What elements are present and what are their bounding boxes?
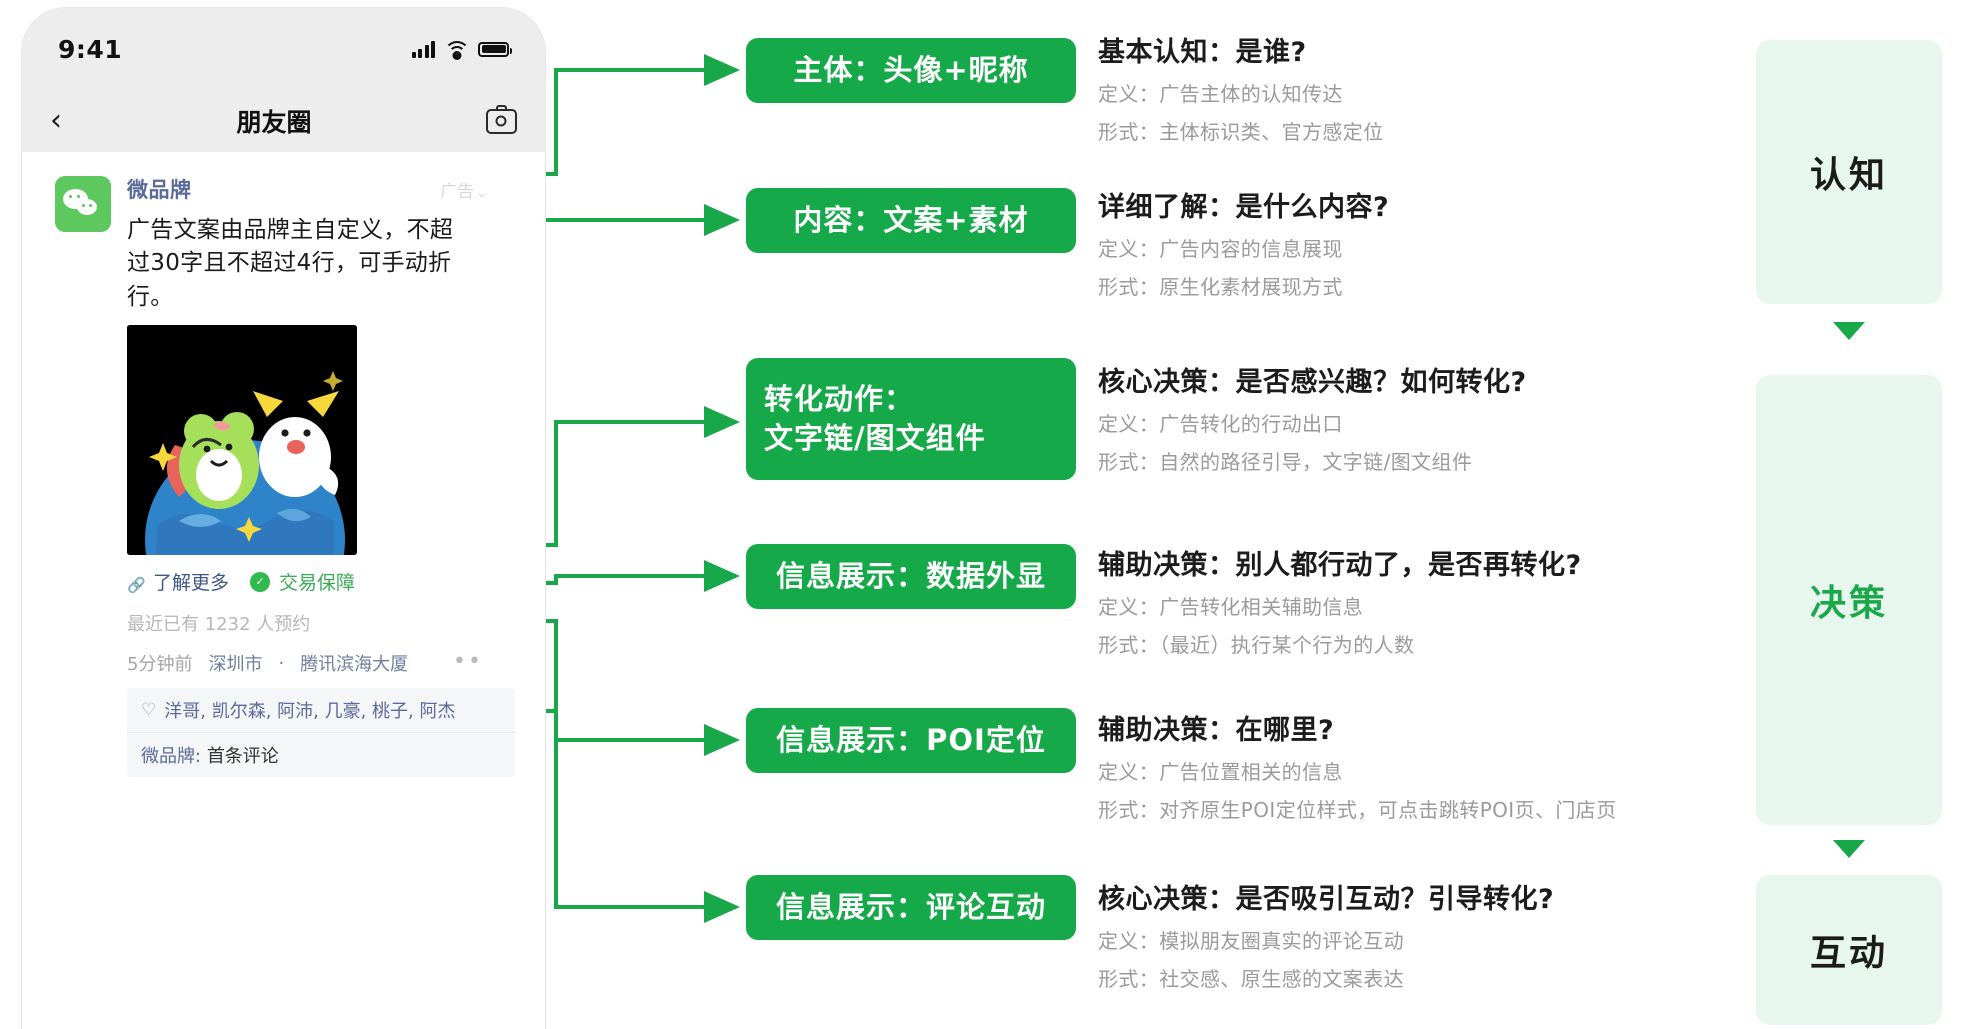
- phase-arrow-2-icon: [1833, 840, 1865, 858]
- detail-interaction-title: 核心决策：是否吸引互动？引导转化?: [1098, 877, 1554, 916]
- status-icons: [412, 41, 510, 58]
- comment-row[interactable]: 微品牌: 首条评论: [127, 733, 515, 777]
- ad-tag-label: 广告: [440, 182, 474, 202]
- node-data-display-label: 信息展示：数据外显: [776, 557, 1046, 596]
- node-content[interactable]: 内容：文案+素材: [746, 188, 1076, 253]
- detail-poi: 辅助决策：在哪里? 定义：广告位置相关的信息 形式：对齐原生POI定位样式，可点…: [1098, 708, 1617, 823]
- phone-mockup: 9:41 ‹ 朋友圈 微品牌 广告⌄: [22, 8, 545, 1029]
- comment-author: 微品牌:: [141, 746, 201, 767]
- poi-city[interactable]: 深圳市: [208, 650, 262, 676]
- page-title: 朋友圈: [236, 103, 311, 139]
- ad-illustration: [127, 325, 357, 555]
- detail-data-display: 辅助决策：别人都行动了，是否再转化? 定义：广告转化相关辅助信息 形式：（最近）…: [1098, 543, 1582, 658]
- node-conversion[interactable]: 转化动作： 文字链/图文组件: [746, 358, 1076, 480]
- learn-more-link[interactable]: 了解更多: [153, 568, 229, 595]
- link-icon: [127, 573, 144, 590]
- post-time: 5分钟前: [127, 650, 192, 676]
- phase-interaction-label: 互动: [1810, 924, 1888, 976]
- nav-bar: ‹ 朋友圈: [22, 90, 545, 152]
- avatar[interactable]: [55, 176, 111, 232]
- detail-content-form: 形式：原生化素材展现方式: [1098, 271, 1389, 300]
- detail-subject-form: 形式：主体标识类、官方感定位: [1098, 116, 1384, 145]
- status-time: 9:41: [58, 35, 122, 64]
- signal-bars-icon: [412, 41, 436, 58]
- phase-cognition-label: 认知: [1810, 146, 1888, 198]
- node-interaction[interactable]: 信息展示：评论互动: [746, 875, 1076, 940]
- ad-post: 微品牌 广告⌄ 广告文案由品牌主自定义，不超过30字且不超过4行，可手动折行。: [127, 174, 535, 777]
- detail-data-display-title: 辅助决策：别人都行动了，是否再转化?: [1098, 543, 1582, 582]
- poi-name[interactable]: 腾讯滨海大厦: [300, 650, 408, 676]
- phase-cognition: 认知: [1756, 40, 1942, 304]
- detail-interaction: 核心决策：是否吸引互动？引导转化? 定义：模拟朋友圈真实的评论互动 形式：社交感…: [1098, 877, 1554, 992]
- likes-names[interactable]: 洋哥, 凯尔森, 阿沛, 几豪, 桃子, 阿杰: [164, 697, 455, 723]
- detail-data-display-definition: 定义：广告转化相关辅助信息: [1098, 591, 1582, 620]
- detail-content: 详细了解：是什么内容? 定义：广告内容的信息展现 形式：原生化素材展现方式: [1098, 185, 1389, 300]
- node-poi-label: 信息展示：POI定位: [776, 721, 1046, 760]
- ad-tag[interactable]: 广告⌄: [440, 177, 487, 202]
- node-subject[interactable]: 主体：头像+昵称: [746, 38, 1076, 103]
- wechat-logo-icon: [63, 189, 103, 219]
- detail-poi-definition: 定义：广告位置相关的信息: [1098, 756, 1617, 785]
- ellipsis-icon[interactable]: ••: [453, 649, 483, 674]
- node-content-label: 内容：文案+素材: [793, 201, 1028, 240]
- detail-content-definition: 定义：广告内容的信息展现: [1098, 233, 1389, 262]
- detail-data-display-form: 形式：（最近）执行某个行为的人数: [1098, 629, 1582, 658]
- node-poi[interactable]: 信息展示：POI定位: [746, 708, 1076, 773]
- heart-icon[interactable]: ♡: [141, 700, 156, 720]
- detail-subject-title: 基本认知：是谁?: [1098, 30, 1384, 69]
- phase-interaction: 互动: [1756, 875, 1942, 1025]
- chevron-down-icon: ⌄: [476, 186, 487, 201]
- status-bar: 9:41: [22, 8, 545, 90]
- detail-conversion: 核心决策：是否感兴趣？如何转化? 定义：广告转化的行动出口 形式：自然的路径引导…: [1098, 360, 1527, 475]
- diagram-canvas: 9:41 ‹ 朋友圈 微品牌 广告⌄: [0, 0, 1978, 1029]
- detail-subject: 基本认知：是谁? 定义：广告主体的认知传达 形式：主体标识类、官方感定位: [1098, 30, 1384, 145]
- detail-conversion-definition: 定义：广告转化的行动出口: [1098, 408, 1527, 437]
- comment-text: 首条评论: [207, 746, 279, 767]
- moments-feed: 微品牌 广告⌄ 广告文案由品牌主自定义，不超过30字且不超过4行，可手动折行。: [22, 152, 545, 1029]
- ad-media[interactable]: [127, 325, 357, 555]
- node-interaction-label: 信息展示：评论互动: [776, 888, 1046, 927]
- phase-arrow-1-icon: [1833, 322, 1865, 340]
- camera-icon[interactable]: [486, 109, 517, 134]
- shield-check-icon: ✓: [250, 572, 270, 592]
- trade-guarantee-label: 交易保障: [279, 568, 355, 595]
- wifi-icon: [445, 41, 468, 58]
- phase-decision-label: 决策: [1810, 574, 1888, 626]
- battery-icon: [478, 42, 509, 57]
- detail-content-title: 详细了解：是什么内容?: [1098, 185, 1389, 224]
- detail-conversion-form: 形式：自然的路径引导，文字链/图文组件: [1098, 446, 1527, 475]
- node-subject-label: 主体：头像+昵称: [793, 51, 1028, 90]
- detail-interaction-definition: 定义：模拟朋友圈真实的评论互动: [1098, 925, 1554, 954]
- detail-subject-definition: 定义：广告主体的认知传达: [1098, 78, 1384, 107]
- node-conversion-label: 转化动作： 文字链/图文组件: [764, 380, 986, 458]
- poi-separator: ·: [278, 653, 284, 674]
- ad-link-row: 了解更多 ✓ 交易保障: [127, 568, 535, 595]
- social-block: ♡ 洋哥, 凯尔森, 阿沛, 几豪, 桃子, 阿杰 微品牌: 首条评论: [127, 688, 515, 777]
- detail-poi-title: 辅助决策：在哪里?: [1098, 708, 1617, 747]
- ad-copy: 广告文案由品牌主自定义，不超过30字且不超过4行，可手动折行。: [127, 214, 465, 314]
- chevron-left-icon[interactable]: ‹: [50, 106, 62, 136]
- likes-row: ♡ 洋哥, 凯尔森, 阿沛, 几豪, 桃子, 阿杰: [127, 688, 515, 733]
- detail-conversion-title: 核心决策：是否感兴趣？如何转化?: [1098, 360, 1527, 399]
- post-meta-row: 5分钟前 深圳市 · 腾讯滨海大厦 ••: [127, 650, 535, 676]
- detail-interaction-form: 形式：社交感、原生感的文案表达: [1098, 963, 1554, 992]
- phase-decision: 决策: [1756, 375, 1942, 825]
- reservation-count: 最近已有 1232 人预约: [127, 610, 535, 636]
- detail-poi-form: 形式：对齐原生POI定位样式，可点击跳转POI页、门店页: [1098, 794, 1617, 823]
- node-data-display[interactable]: 信息展示：数据外显: [746, 544, 1076, 609]
